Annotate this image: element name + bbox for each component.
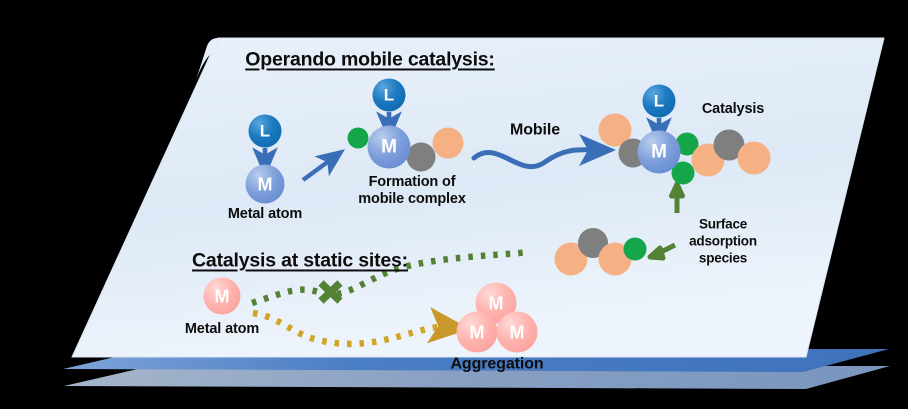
surface-species-label-line1: Surface	[699, 218, 747, 233]
metal-atom-sphere: M	[368, 126, 411, 169]
metal-atom-sphere: M	[246, 165, 285, 204]
adsorbate-orange-sphere	[738, 142, 771, 175]
mobile-label: Mobile	[510, 121, 560, 138]
diagram-canvas: Operando mobile catalysis: Catalysis at …	[0, 0, 908, 409]
page-title-top: Operando mobile catalysis:	[245, 49, 494, 70]
ligand-sphere: L	[249, 115, 282, 148]
ligand-sphere: L	[373, 79, 406, 112]
formation-label-line2: mobile complex	[358, 192, 466, 208]
metal-atom-label-bottom: Metal atom	[185, 322, 259, 338]
adsorbate-gray-sphere	[407, 143, 436, 172]
metal-atom-label-top: Metal atom	[228, 207, 302, 223]
adsorbate-green-sphere	[348, 128, 369, 149]
adsorbate-green-sphere	[624, 238, 647, 261]
aggregation-label: Aggregation	[450, 355, 543, 372]
static-metal-atom-sphere: M	[204, 278, 241, 315]
adsorbate-orange-sphere	[433, 128, 464, 159]
catalysis-label: Catalysis	[702, 102, 764, 118]
metal-atom-sphere: M	[638, 131, 681, 174]
page-title-bottom: Catalysis at static sites:	[192, 250, 408, 271]
surface-species-label-line2: adsorption	[689, 235, 757, 250]
surface-species-label-line3: species	[699, 252, 747, 267]
formation-label-line1: Formation of	[369, 175, 456, 191]
ligand-sphere: L	[643, 85, 676, 118]
aggregate-metal-sphere: M	[457, 312, 498, 353]
aggregate-metal-sphere: M	[497, 312, 538, 353]
